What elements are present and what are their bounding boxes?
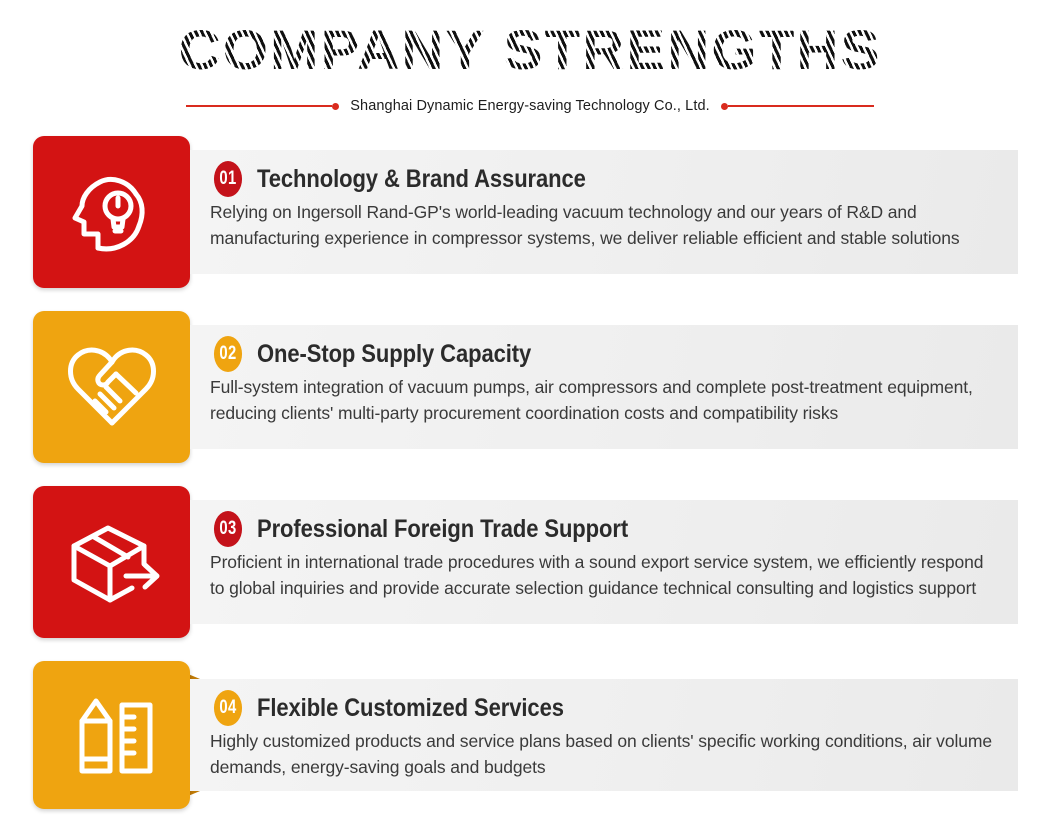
page-title: COMPANY STRENGTHS — [178, 22, 881, 78]
page-title-wrap: COMPANY STRENGTHS — [0, 22, 1060, 78]
card-body-text: Highly customized products and service p… — [210, 729, 1002, 781]
card-body-text: Relying on Ingersoll Rand-GP's world-lea… — [210, 200, 1002, 252]
card-panel: 03 Professional Foreign Trade Support Pr… — [190, 500, 1018, 624]
divider-line-left — [186, 105, 332, 107]
card-title: Technology & Brand Assurance — [257, 165, 586, 194]
page-header: COMPANY STRENGTHS Shanghai Dynamic Energ… — [0, 0, 1060, 114]
subtitle-divider: Shanghai Dynamic Energy-saving Technolog… — [0, 98, 1060, 114]
card-body-text: Full-system integration of vacuum pumps,… — [210, 375, 1002, 427]
head-lightbulb-icon — [64, 164, 160, 260]
card-number-badge: 01 — [214, 161, 242, 197]
card-number-badge: 04 — [214, 690, 242, 726]
card-number-badge: 03 — [214, 511, 242, 547]
strength-card-list: 01 Technology & Brand Assurance Relying … — [0, 136, 1060, 809]
divider-line-right — [728, 105, 874, 107]
card-number-badge: 02 — [214, 336, 242, 372]
card-title: One-Stop Supply Capacity — [257, 340, 531, 369]
divider-dot-right — [721, 103, 728, 110]
strength-card: 04 Flexible Customized Services Highly c… — [0, 661, 1060, 809]
card-header: 04 Flexible Customized Services — [210, 690, 1002, 726]
strength-card: 01 Technology & Brand Assurance Relying … — [0, 136, 1060, 288]
pencil-ruler-icon — [66, 687, 158, 783]
strength-card: 02 One-Stop Supply Capacity Full-system … — [0, 311, 1060, 463]
card-panel: 04 Flexible Customized Services Highly c… — [190, 679, 1018, 791]
handshake-heart-icon — [62, 339, 162, 435]
card-title: Flexible Customized Services — [257, 694, 564, 723]
card-panel: 02 One-Stop Supply Capacity Full-system … — [190, 325, 1018, 449]
card-title: Professional Foreign Trade Support — [257, 515, 628, 544]
card-header: 03 Professional Foreign Trade Support — [210, 511, 1002, 547]
card-header: 02 One-Stop Supply Capacity — [210, 336, 1002, 372]
strength-card: 03 Professional Foreign Trade Support Pr… — [0, 486, 1060, 638]
card-panel: 01 Technology & Brand Assurance Relying … — [190, 150, 1018, 274]
card-icon-tile — [33, 486, 190, 638]
card-icon-tile — [33, 136, 190, 288]
card-header: 01 Technology & Brand Assurance — [210, 161, 1002, 197]
card-body-text: Proficient in international trade proced… — [210, 550, 1002, 602]
divider-dot-left — [332, 103, 339, 110]
card-icon-tile — [33, 311, 190, 463]
company-subtitle: Shanghai Dynamic Energy-saving Technolog… — [339, 98, 720, 114]
card-icon-tile — [33, 661, 190, 809]
box-export-arrow-icon — [60, 514, 164, 610]
